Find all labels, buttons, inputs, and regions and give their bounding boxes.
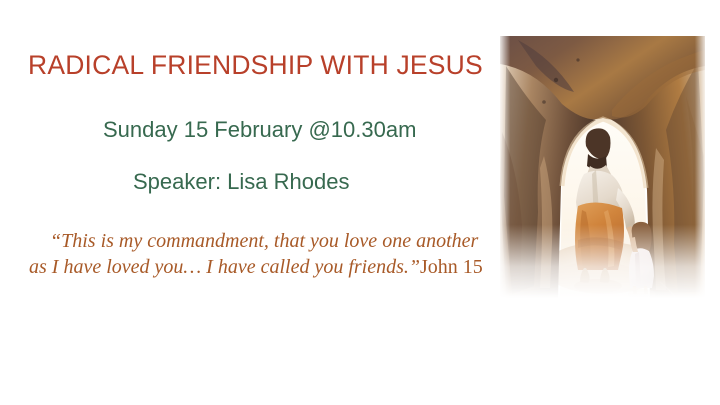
quote-line-1: “This is my commandment, that you love o… <box>29 229 483 255</box>
artwork-image <box>500 36 705 298</box>
service-date-time: Sunday 15 February @10.30am <box>103 117 416 143</box>
quote-line-2-text: as I have loved you… I have called you f… <box>29 256 420 278</box>
slide-title: RADICAL FRIENDSHIP WITH JESUS <box>28 50 483 81</box>
speaker-name: Speaker: Lisa Rhodes <box>133 169 349 195</box>
scripture-quote: “This is my commandment, that you love o… <box>29 229 483 280</box>
quote-reference: John 15 <box>420 256 483 278</box>
presentation-slide: RADICAL FRIENDSHIP WITH JESUS Sunday 15 … <box>0 0 720 405</box>
watercolour-illustration <box>500 36 705 298</box>
quote-line-2: as I have loved you… I have called you f… <box>29 255 483 281</box>
